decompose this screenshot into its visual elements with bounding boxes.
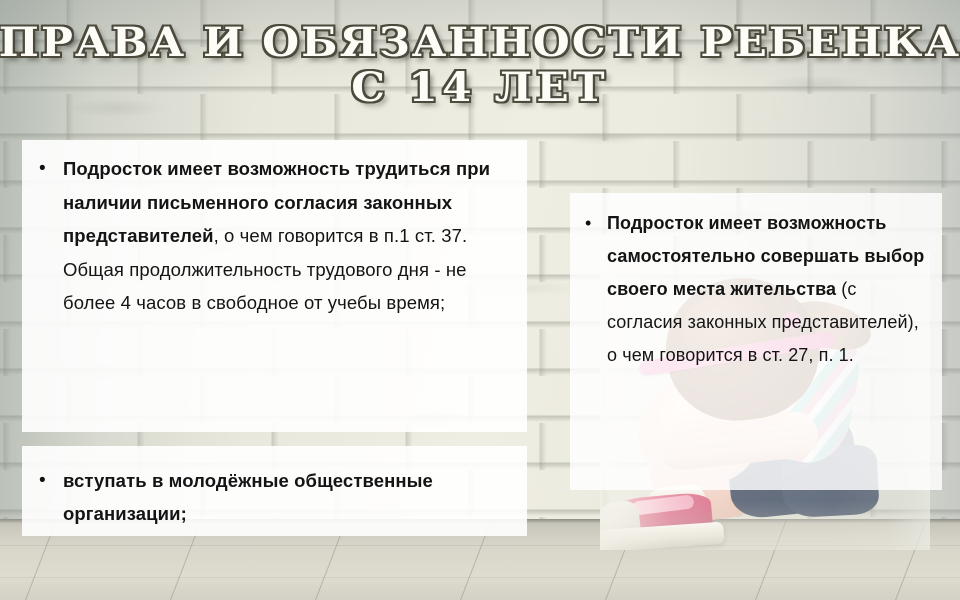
bullet-text-work: Подросток имеет возможность трудиться пр… [63, 152, 513, 320]
bullet-marker-residence: • [582, 207, 607, 239]
slide-title: ПРАВА И ОБЯЗАННОСТИ РЕБЕНКА С 14 ЛЕТ [0, 20, 960, 110]
title-line-2: С 14 ЛЕТ [0, 65, 960, 110]
bullet-text-residence-bold: Подросток имеет возможность самостоятель… [607, 213, 924, 299]
bullet-text-residence: Подросток имеет возможность самостоятель… [607, 207, 930, 372]
bullet-box-organizations: • вступать в молодёжные общественные орг… [22, 446, 527, 536]
title-line-1: ПРАВА И ОБЯЗАННОСТИ РЕБЕНКА [0, 20, 960, 65]
bullet-text-organizations: вступать в молодёжные общественные орган… [63, 464, 513, 530]
slide-canvas: ПРАВА И ОБЯЗАННОСТИ РЕБЕНКА С 14 ЛЕТ • П… [0, 0, 960, 600]
bullet-marker-work: • [36, 152, 63, 185]
bullet-box-work: • Подросток имеет возможность трудиться … [22, 140, 527, 432]
bullet-marker-organizations: • [36, 464, 63, 497]
bullet-box-residence: • Подросток имеет возможность самостояте… [570, 193, 942, 490]
